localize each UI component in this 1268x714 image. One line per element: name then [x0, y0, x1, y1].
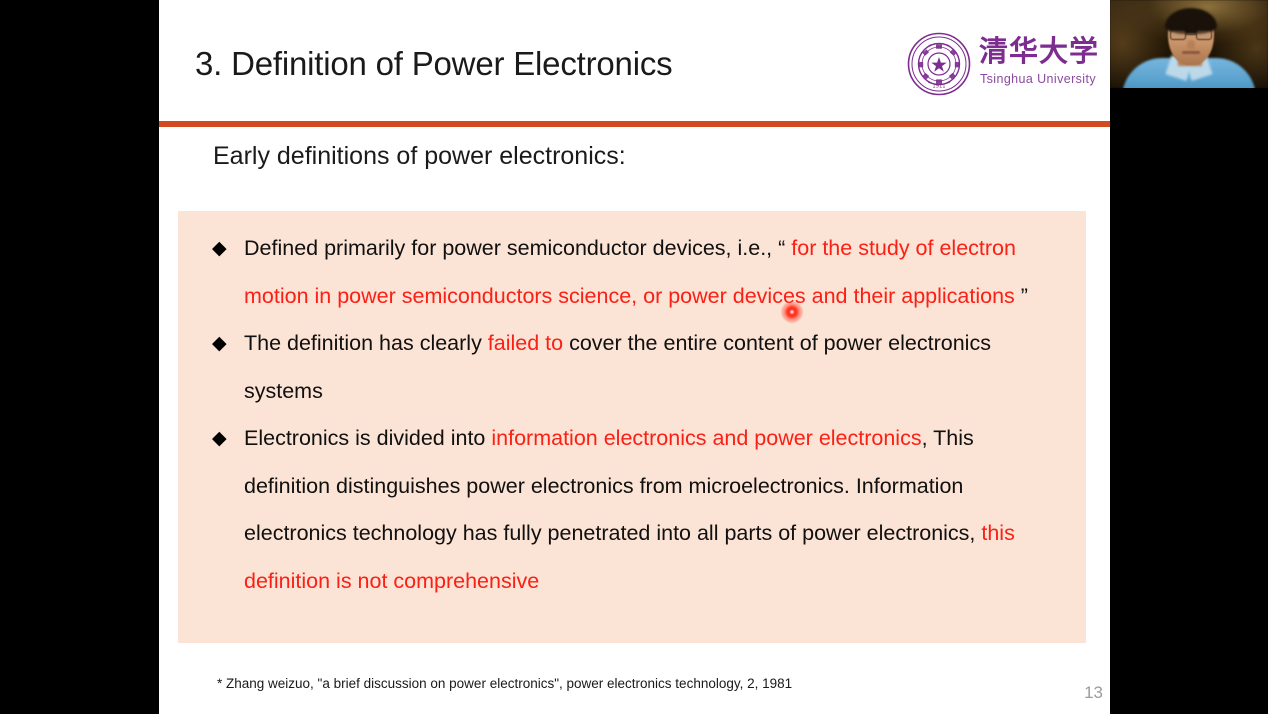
slide-header: 3. Definition of Power Electronics	[159, 0, 1110, 122]
presentation-slide: 3. Definition of Power Electronics	[159, 0, 1110, 714]
tsinghua-logo: 1911 清华大学 Tsinghua University	[907, 32, 1077, 98]
slide-subtitle: Early definitions of power electronics:	[213, 142, 626, 171]
bullet-diamond-icon: ◆	[212, 225, 227, 273]
bullet-text: Electronics is divided into	[244, 426, 491, 450]
glasses-lens-left	[1170, 30, 1186, 40]
bullet-item: ◆Defined primarily for power semiconduct…	[200, 225, 1064, 320]
bullet-list: ◆Defined primarily for power semiconduct…	[200, 225, 1064, 605]
presenter-nose	[1187, 40, 1195, 49]
bullet-highlight-text: information electronics and power electr…	[491, 426, 921, 450]
glasses-icon	[1170, 30, 1212, 40]
svg-text:1911: 1911	[932, 83, 945, 89]
bullet-item: ◆The definition has clearly failed to co…	[200, 320, 1064, 415]
slide-page-number: 13	[1069, 683, 1103, 703]
presenter-webcam-tile[interactable]	[1110, 0, 1268, 88]
bullet-text: The definition has clearly	[244, 331, 488, 355]
header-accent-rule	[159, 121, 1110, 127]
page-title: 3. Definition of Power Electronics	[195, 45, 672, 83]
glasses-lens-right	[1196, 30, 1212, 40]
presenter-mouth	[1182, 51, 1200, 54]
tsinghua-seal-icon: 1911	[907, 32, 971, 96]
bullet-diamond-icon: ◆	[212, 320, 227, 368]
content-panel: ◆Defined primarily for power semiconduct…	[178, 211, 1086, 643]
presenter-avatar	[1110, 0, 1268, 88]
bullet-diamond-icon: ◆	[212, 415, 227, 463]
glasses-bridge	[1186, 34, 1196, 35]
logo-chinese-name: 清华大学	[979, 34, 1099, 68]
bullet-text: Defined primarily for power semiconducto…	[244, 236, 791, 260]
tsinghua-wordmark: 清华大学 Tsinghua University	[979, 34, 1077, 96]
bullet-text: ”	[1015, 284, 1028, 308]
slide-footnote: * Zhang weizuo, "a brief discussion on p…	[217, 676, 792, 691]
bullet-highlight-text: failed to	[488, 331, 563, 355]
bullet-item: ◆Electronics is divided into information…	[200, 415, 1064, 605]
logo-english-name: Tsinghua University	[980, 72, 1096, 86]
